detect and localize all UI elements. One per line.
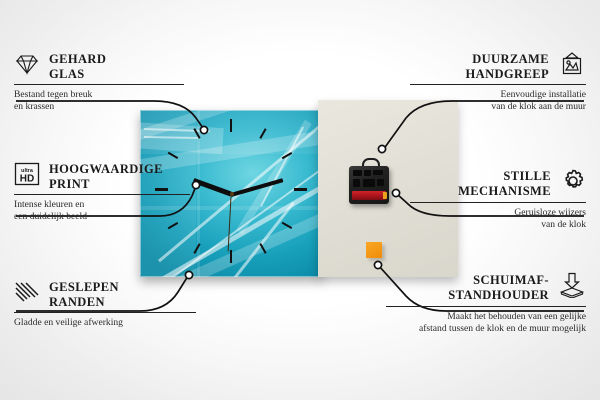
- feature-description: Gladde en veilige afwerking: [14, 317, 196, 329]
- feature-title: GESLEPEN RANDEN: [49, 280, 119, 309]
- svg-text:HD: HD: [20, 174, 34, 185]
- feature-title: HOOGWAARDIGE PRINT: [49, 162, 163, 191]
- feature-rule: [410, 202, 586, 203]
- feature-rule: [386, 306, 586, 307]
- gear-icon: [560, 168, 586, 199]
- feature-description: Maakt het behouden van een gelijke afsta…: [386, 311, 586, 334]
- ultra-hd-icon: ultra HD: [14, 162, 40, 191]
- feature-schuimafstandhouder[interactable]: SCHUIMAF- STANDHOUDER Maakt het behouden…: [386, 272, 586, 334]
- battery-positive-tip: [383, 192, 387, 199]
- feature-rule: [14, 84, 184, 85]
- feature-description: Intense kleuren en een duidelijk beeld: [14, 199, 190, 222]
- diagonal-lines-icon: [14, 281, 40, 308]
- feature-stille-mechanisme[interactable]: STILLE MECHANISME Geruisloze wijzers van…: [410, 168, 586, 230]
- feature-rule: [14, 194, 190, 195]
- feature-gehard-glas[interactable]: GEHARD GLAS Bestand tegen breuk en krass…: [14, 52, 184, 112]
- mechanism-battery: [352, 191, 386, 200]
- feature-title: GEHARD GLAS: [49, 52, 106, 81]
- clock-center-hub: [230, 192, 234, 196]
- clock-tick: [230, 250, 232, 263]
- feature-rule: [410, 84, 586, 85]
- hanging-frame-icon: [558, 52, 586, 81]
- diamond-icon: [14, 53, 40, 80]
- feature-description: Bestand tegen breuk en krassen: [14, 89, 184, 112]
- feature-rule: [14, 312, 196, 313]
- feature-title: SCHUIMAF- STANDHOUDER: [448, 273, 549, 302]
- clock-tick: [294, 188, 307, 191]
- clock-tick: [230, 119, 232, 132]
- foam-spacer-pad: [366, 242, 382, 258]
- arrow-down-block-icon: [558, 272, 586, 303]
- feature-description: Eenvoudige installatie van de klok aan d…: [410, 89, 586, 112]
- infographic-canvas: GEHARD GLAS Bestand tegen breuk en krass…: [0, 0, 600, 400]
- feature-hoogwaardige-print[interactable]: ultra HD HOOGWAARDIGE PRINT Intense kleu…: [14, 162, 190, 222]
- feature-title: DUURZAME HANDGREEP: [466, 52, 549, 81]
- feature-duurzame-handgreep[interactable]: DUURZAME HANDGREEP Eenvoudige installati…: [410, 52, 586, 112]
- feature-geslepen-randen[interactable]: GESLEPEN RANDEN Gladde en veilige afwerk…: [14, 280, 196, 329]
- feature-description: Geruisloze wijzers van de klok: [410, 207, 586, 230]
- feature-title: STILLE MECHANISME: [458, 169, 551, 198]
